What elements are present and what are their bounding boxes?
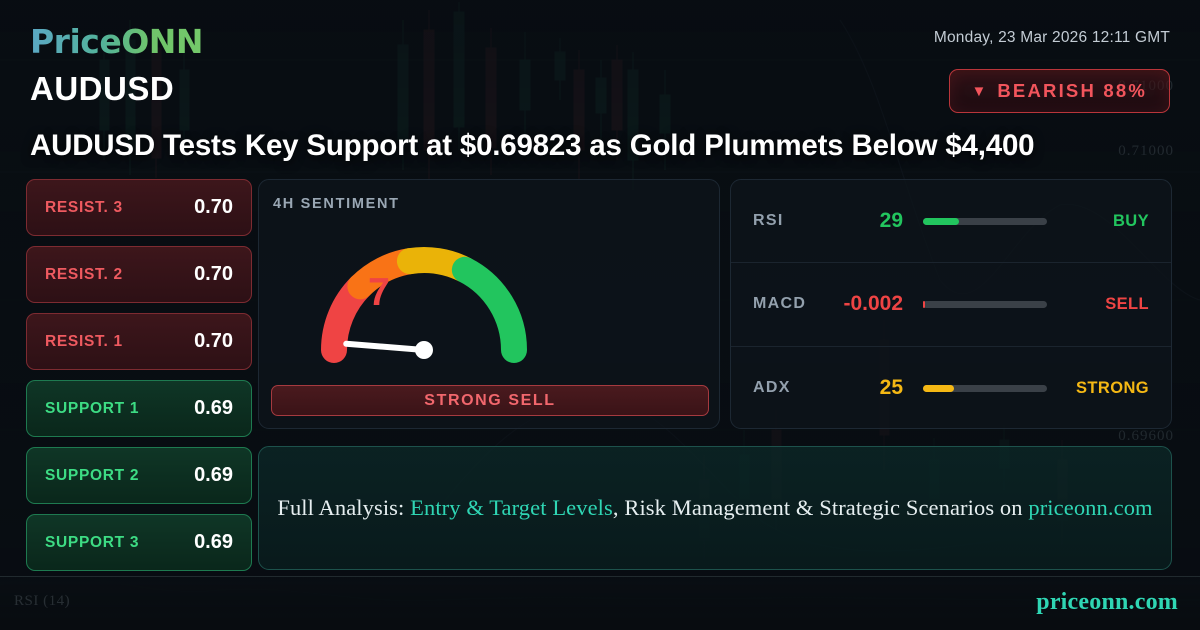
list-item[interactable]: RESIST. 2 0.70 bbox=[26, 246, 252, 303]
list-item[interactable]: SUPPORT 2 0.69 bbox=[26, 447, 252, 504]
cta-text: Full Analysis: Entry & Target Levels, Ri… bbox=[277, 495, 1152, 521]
footer-domain[interactable]: priceonn.com bbox=[1036, 589, 1178, 616]
indicator-name: RSI bbox=[753, 212, 831, 230]
indicator-progress-fill bbox=[923, 218, 959, 225]
page-title: AUDUSD bbox=[30, 70, 174, 108]
cta-link[interactable]: Entry & Target Levels bbox=[410, 495, 613, 520]
list-item[interactable]: SUPPORT 1 0.69 bbox=[26, 380, 252, 437]
status-badge[interactable]: ▼ BEARISH 88% bbox=[949, 69, 1171, 113]
sentiment-title: 4H SENTIMENT bbox=[273, 196, 400, 212]
indicator-progress-track bbox=[923, 218, 1047, 225]
level-value: 0.69 bbox=[194, 397, 233, 420]
cta-middle: , Risk Management & Strategic Scenarios … bbox=[613, 495, 1028, 520]
indicator-value: -0.002 bbox=[831, 292, 913, 316]
footer-watermark: RSI (14) bbox=[14, 593, 70, 610]
level-label: SUPPORT 3 bbox=[45, 534, 139, 552]
cta-prefix: Full Analysis: bbox=[277, 495, 410, 520]
level-label: SUPPORT 2 bbox=[45, 467, 139, 485]
indicators-panel: RSI 29 BUY MACD -0.002 SELL ADX 25 STRON… bbox=[730, 179, 1172, 429]
gauge-needle bbox=[346, 341, 433, 359]
gauge-needle-line bbox=[346, 344, 424, 350]
level-value: 0.70 bbox=[194, 196, 233, 219]
triangle-down-icon: ▼ bbox=[972, 84, 987, 99]
indicator-signal: STRONG bbox=[1057, 379, 1149, 398]
sentiment-verdict-badge: STRONG SELL bbox=[271, 385, 709, 416]
level-label: RESIST. 2 bbox=[45, 266, 123, 284]
headline: AUDUSD Tests Key Support at $0.69823 as … bbox=[30, 129, 1170, 163]
cta-domain-link[interactable]: priceonn.com bbox=[1028, 495, 1152, 520]
level-value: 0.70 bbox=[194, 263, 233, 286]
indicator-name: ADX bbox=[753, 379, 831, 397]
level-value: 0.69 bbox=[194, 531, 233, 554]
footer: RSI (14) priceonn.com bbox=[0, 576, 1200, 630]
gauge-segment-buy bbox=[465, 270, 514, 350]
table-row[interactable]: RSI 29 BUY bbox=[731, 180, 1171, 263]
sentiment-gauge bbox=[304, 230, 544, 375]
sentiment-panel: 4H SENTIMENT 7 STRONG SELL bbox=[258, 179, 720, 429]
bias-label: BEARISH 88% bbox=[997, 80, 1147, 102]
indicator-progress-track bbox=[923, 385, 1047, 392]
indicator-progress-fill bbox=[923, 301, 925, 308]
infographic-card: PriceONN AUDUSD Monday, 23 Mar 2026 12:1… bbox=[0, 0, 1200, 630]
cta-banner[interactable]: Full Analysis: Entry & Target Levels, Ri… bbox=[258, 446, 1172, 570]
level-label: RESIST. 1 bbox=[45, 333, 123, 351]
indicator-signal: SELL bbox=[1057, 295, 1149, 314]
list-item[interactable]: RESIST. 3 0.70 bbox=[26, 179, 252, 236]
level-value: 0.69 bbox=[194, 464, 233, 487]
level-label: SUPPORT 1 bbox=[45, 400, 139, 418]
indicator-signal: BUY bbox=[1057, 212, 1149, 231]
indicator-value: 25 bbox=[831, 376, 913, 400]
gauge-svg bbox=[304, 230, 544, 375]
list-item[interactable]: SUPPORT 3 0.69 bbox=[26, 514, 252, 571]
level-value: 0.70 bbox=[194, 330, 233, 353]
brand-logo: PriceONN bbox=[30, 22, 203, 61]
table-row[interactable]: MACD -0.002 SELL bbox=[731, 263, 1171, 346]
gauge-needle-hub bbox=[415, 341, 433, 359]
indicator-progress-track bbox=[923, 301, 1047, 308]
timestamp: Monday, 23 Mar 2026 12:11 GMT bbox=[934, 29, 1170, 47]
indicator-value: 29 bbox=[831, 209, 913, 233]
level-label: RESIST. 3 bbox=[45, 199, 123, 217]
header: PriceONN AUDUSD Monday, 23 Mar 2026 12:1… bbox=[0, 0, 1200, 118]
levels-list: RESIST. 3 0.70 RESIST. 2 0.70 RESIST. 1 … bbox=[26, 179, 252, 581]
table-row[interactable]: ADX 25 STRONG bbox=[731, 347, 1171, 430]
indicator-name: MACD bbox=[753, 295, 831, 313]
list-item[interactable]: RESIST. 1 0.70 bbox=[26, 313, 252, 370]
indicator-progress-fill bbox=[923, 385, 954, 392]
